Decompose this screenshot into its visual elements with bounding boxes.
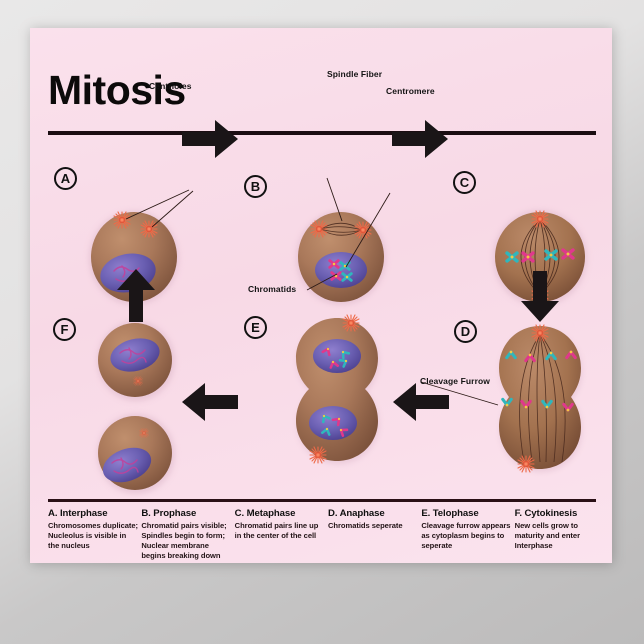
caption-body: Chromatid pairs line up in the center of… xyxy=(235,521,326,541)
caption-body: Chromatids seperate xyxy=(328,521,419,531)
mitosis-poster: Mitosis xyxy=(30,28,612,563)
mitosis-diagram xyxy=(30,133,612,533)
caption-title: B. Prophase xyxy=(141,508,232,519)
caption-metaphase: C. Metaphase Chromatid pairs line up in … xyxy=(235,508,326,561)
annotation-centrioles: Centrioles xyxy=(149,81,192,91)
arrow-f-to-a xyxy=(115,268,157,323)
caption-divider-rule xyxy=(48,499,596,502)
caption-body: Chromosomes duplicate; Nucleolus is visi… xyxy=(48,521,139,551)
stage-badge-d[interactable]: D xyxy=(454,320,477,343)
caption-title: C. Metaphase xyxy=(235,508,326,519)
caption-strip: A. Interphase Chromosomes duplicate; Nuc… xyxy=(48,508,608,561)
stage-badge-a[interactable]: A xyxy=(54,167,77,190)
caption-anaphase: D. Anaphase Chromatids seperate xyxy=(328,508,419,561)
caption-body: Chromatid pairs visible; Spindles begin … xyxy=(141,521,232,561)
cell-b-prophase xyxy=(296,178,390,305)
caption-cytokinesis: F. Cytokinesis New cells grow to maturit… xyxy=(515,508,606,561)
stage-badge-f[interactable]: F xyxy=(53,318,76,341)
arrow-d-to-e xyxy=(393,381,450,423)
stage-badge-b[interactable]: B xyxy=(244,175,267,198)
caption-body: Cleavage furrow appears as cytoplasm beg… xyxy=(421,521,512,551)
caption-title: F. Cytokinesis xyxy=(515,508,606,519)
caption-title: A. Interphase xyxy=(48,508,139,519)
annotation-chromatids: Chromatids xyxy=(248,284,296,294)
annotation-spindle-fiber: Spindle Fiber xyxy=(327,69,382,79)
stage-badge-e[interactable]: E xyxy=(244,316,267,339)
cell-e-telophase xyxy=(296,315,379,464)
title-text: Mitosis xyxy=(48,70,596,111)
caption-telophase: E. Telophase Cleavage furrow appears as … xyxy=(421,508,512,561)
arrow-e-to-f xyxy=(182,381,239,423)
arrow-c-to-d xyxy=(519,271,561,323)
caption-body: New cells grow to maturity and enter Int… xyxy=(515,521,606,551)
page-title: Mitosis xyxy=(48,70,596,111)
cell-f-cytokinesis xyxy=(97,321,175,494)
stage-badge-c[interactable]: C xyxy=(453,171,476,194)
caption-title: E. Telophase xyxy=(421,508,512,519)
annotation-centromere: Centromere xyxy=(386,86,435,96)
caption-title: D. Anaphase xyxy=(328,508,419,519)
arrow-b-to-c xyxy=(392,118,449,160)
caption-interphase: A. Interphase Chromosomes duplicate; Nuc… xyxy=(48,508,139,561)
annotation-cleavage-furrow: Cleavage Furrow xyxy=(420,376,490,386)
arrow-a-to-b xyxy=(182,118,239,160)
caption-prophase: B. Prophase Chromatid pairs visible; Spi… xyxy=(141,508,232,561)
